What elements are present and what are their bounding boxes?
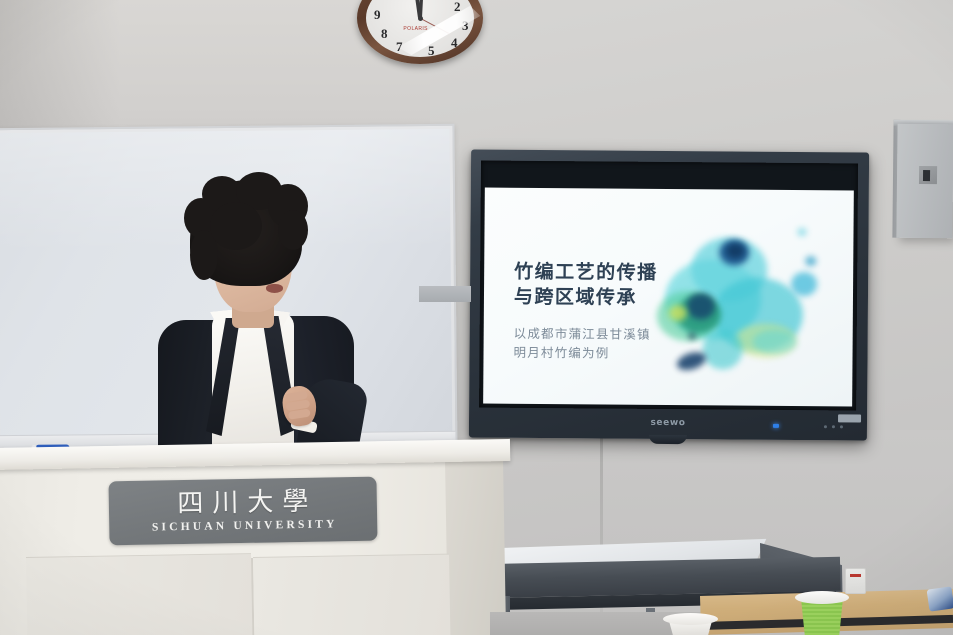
lectern-side-panel <box>445 459 506 635</box>
plaque-chinese-name: 四川大學 <box>168 489 317 518</box>
lectern-door-right[interactable] <box>253 554 451 635</box>
slide-subtitle-line-1: 以成都市蒲江县甘溪镇 <box>514 324 651 344</box>
display-wall-mount <box>419 286 471 302</box>
slide-title-line-2: 与跨区域传承 <box>514 285 658 311</box>
hair-curl <box>210 202 262 250</box>
blue-object <box>927 586 953 611</box>
display-key[interactable] <box>840 425 843 428</box>
slide-title-line-1: 竹编工艺的传播 <box>514 260 658 286</box>
hair-curl <box>278 210 308 250</box>
clock-numeral-9: 9 <box>374 7 381 23</box>
lock-icon <box>923 170 930 181</box>
lectern: 四川大學 SICHUAN UNIVERSITY <box>0 448 510 635</box>
clock-numeral-4: 4 <box>451 35 458 51</box>
green-paper-cup <box>795 588 849 635</box>
classroom-scene: 9 8 7 2 3 4 5 POLARIS <box>0 0 953 635</box>
watercolor-artwork <box>646 211 847 388</box>
clock-numeral-5: 5 <box>428 43 435 59</box>
clock-numeral-8: 8 <box>381 26 388 42</box>
slide-subtitle: 以成都市蒲江县甘溪镇 明月村竹编为例 <box>513 324 650 364</box>
mouth <box>266 284 283 293</box>
presentation-slide: 竹编工艺的传播 与跨区域传承 以成都市蒲江县甘溪镇 明月村竹编为例 <box>483 188 854 407</box>
electrical-cabinet[interactable] <box>892 120 953 239</box>
cup-rim <box>795 591 849 604</box>
display-badge <box>838 414 861 422</box>
ir-sensor-icon <box>649 435 687 444</box>
display-screen[interactable]: 竹编工艺的传播 与跨区域传承 以成都市蒲江县甘溪镇 明月村竹编为例 <box>483 188 854 407</box>
clock-brand-label: POLARIS <box>403 26 427 32</box>
clock-center-cap <box>418 16 423 21</box>
university-plaque: 四川大學 SICHUAN UNIVERSITY <box>108 477 377 546</box>
display-key[interactable] <box>832 425 835 428</box>
plaque-english-name: SICHUAN UNIVERSITY <box>149 518 338 533</box>
cup-rim <box>663 613 718 625</box>
seewo-interactive-panel[interactable]: 竹编工艺的传播 与跨区域传承 以成都市蒲江县甘溪镇 明月村竹编为例 seewo <box>469 149 869 440</box>
lectern-door-left[interactable] <box>26 553 253 635</box>
outlet-label <box>850 574 861 577</box>
seewo-logo: seewo <box>650 418 685 428</box>
power-led-icon <box>773 424 779 428</box>
cabinet-door[interactable] <box>896 124 953 239</box>
wall-clock: 9 8 7 2 3 4 5 POLARIS <box>357 0 483 64</box>
presenter <box>150 180 380 470</box>
display-key[interactable] <box>824 425 827 428</box>
display-control-buttons[interactable] <box>824 425 843 428</box>
slide-title: 竹编工艺的传播 与跨区域传承 <box>514 260 658 311</box>
slide-subtitle-line-2: 明月村竹编为例 <box>513 343 650 363</box>
white-paper-cup <box>663 612 718 635</box>
